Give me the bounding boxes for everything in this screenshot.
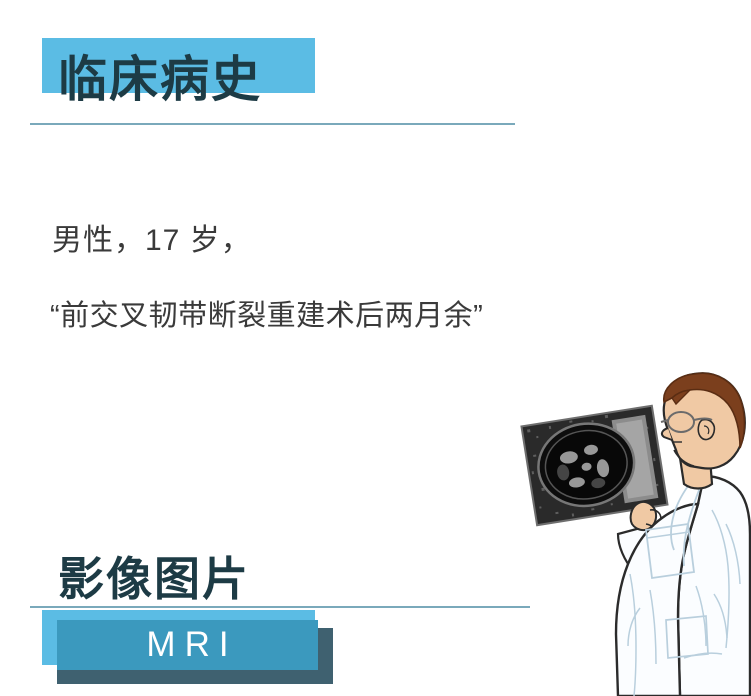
doctor-reading-mri-film-illustration [498,358,751,696]
clinical-history-heading: 临床病史 [58,56,262,105]
clinical-history-divider [30,123,515,125]
doctor-ear [698,420,714,440]
chief-complaint-text: “前交叉韧带断裂重建术后两月余” [50,302,483,331]
imaging-section-heading: 影像图片 [58,556,250,602]
imaging-section-divider [30,606,530,608]
mri-modality-label: MRI [57,620,318,670]
slide-canvas: 临床病史 男性，17 岁， “前交叉韧带断裂重建术后两月余” 影像图片 MRI [0,0,751,696]
patient-demographics-text: 男性，17 岁， [52,226,252,256]
